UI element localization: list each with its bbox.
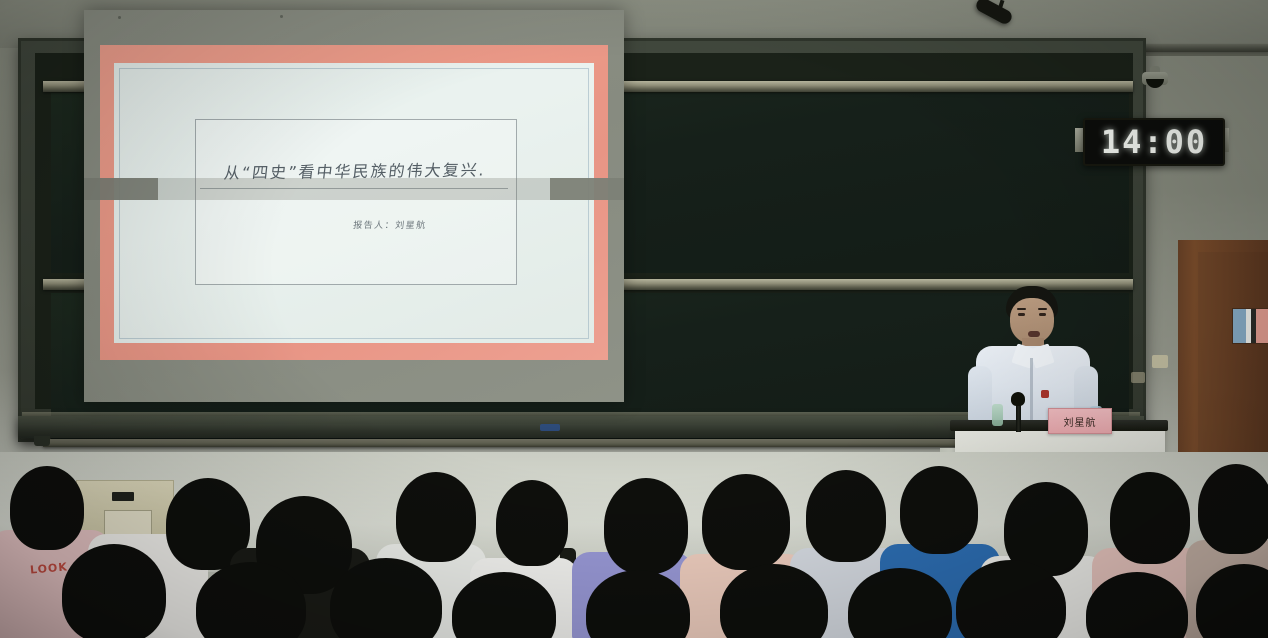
slide-presenter-line: 报告人：刘星航 (199, 218, 510, 231)
microphone-icon[interactable] (1011, 392, 1025, 406)
lecturer-eye-right (1039, 313, 1046, 316)
screen-speck (118, 16, 121, 19)
audience-head (1110, 472, 1190, 564)
lecturer-arm-left (968, 366, 992, 428)
audience-area: LOOK (0, 452, 1268, 638)
chalk-eraser[interactable] (540, 424, 560, 431)
rail-edge-left (84, 178, 158, 200)
lecturer-brow-right (1038, 308, 1047, 310)
audience-head (806, 470, 886, 562)
screen-speck (280, 15, 283, 18)
audience-head (604, 478, 688, 574)
door-window-pane-d (1256, 309, 1268, 343)
lapel-badge-icon (1041, 390, 1049, 398)
audience-head (396, 472, 476, 562)
water-bottle[interactable] (992, 404, 1003, 426)
audience-head (496, 480, 568, 566)
audience-head (702, 474, 790, 570)
audience-head (1198, 464, 1268, 554)
speaker-nameplate: 刘星航 (1048, 408, 1112, 434)
lecturer-brow-left (1017, 308, 1026, 310)
door-window-pane-a (1233, 309, 1246, 343)
rail-edge-right (550, 178, 624, 200)
digital-clock: 14:00 (1083, 118, 1225, 166)
wall-light-switch[interactable] (1152, 355, 1168, 368)
rail-shadow-across-screen (84, 178, 624, 200)
control-panel-buttons[interactable] (104, 510, 152, 536)
wall-plate (1131, 372, 1145, 383)
clock-time-display: 14:00 (1101, 123, 1207, 161)
audience-head (900, 466, 978, 554)
control-panel-display (112, 492, 134, 501)
audience-head (10, 466, 84, 550)
lecturer-mouth (1028, 331, 1040, 337)
slide-content-box (195, 119, 517, 285)
audience-head-front (62, 544, 166, 638)
blackboard-foot (34, 436, 50, 446)
nameplate-text: 刘星航 (1064, 414, 1097, 429)
lecture-hall-photo: 从“四史”看中华民族的伟大复兴. 报告人：刘星航 14:00 (0, 0, 1268, 638)
security-camera-icon (1142, 66, 1168, 86)
lecturer-eye-left (1018, 313, 1025, 316)
door-window (1232, 308, 1268, 344)
